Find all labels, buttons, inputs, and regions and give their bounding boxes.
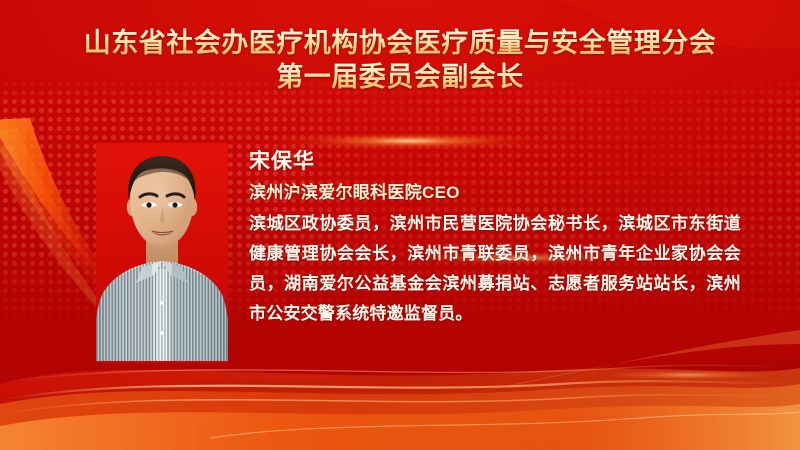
person-role: 滨州沪滨爱尔眼科医院CEO	[249, 180, 741, 205]
person-info: 宋保华 滨州沪滨爱尔眼科医院CEO 滨城区政协委员，滨州市民营医院协会秘书长，滨…	[249, 148, 741, 329]
title-line-1: 山东省社会办医疗机构协会医疗质量与安全管理分会	[0, 26, 800, 60]
person-bio: 滨城区政协委员，滨州市民营医院协会秘书长，滨城区市东街道健康管理协会会长，滨州市…	[249, 209, 741, 329]
person-name: 宋保华	[249, 148, 741, 175]
page-title: 山东省社会办医疗机构协会医疗质量与安全管理分会 第一届委员会副会长	[0, 26, 800, 94]
person-photo	[96, 143, 228, 363]
presentation-slide: 山东省社会办医疗机构协会医疗质量与安全管理分会 第一届委员会副会长	[0, 0, 800, 450]
title-line-2: 第一届委员会副会长	[0, 60, 800, 94]
